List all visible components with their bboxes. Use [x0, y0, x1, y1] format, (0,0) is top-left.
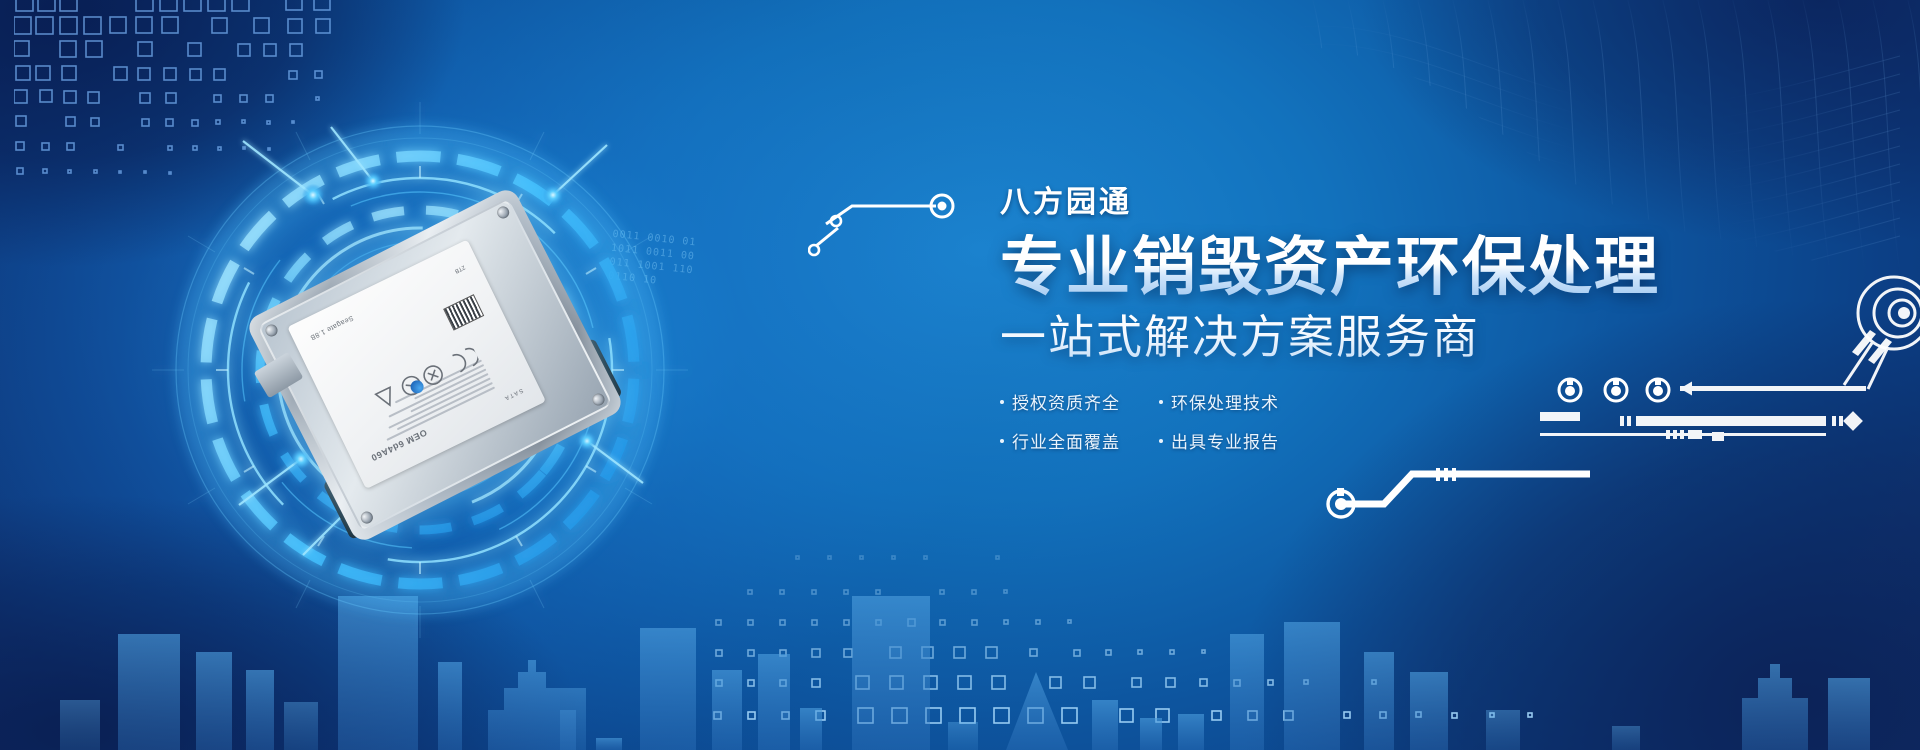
edge-connector-node-icon — [1810, 255, 1920, 405]
feature-label: 环保处理技术 — [1171, 389, 1279, 414]
feature-label: 行业全面覆盖 — [1012, 428, 1120, 453]
hdd-label-barcode-icon — [443, 294, 484, 330]
feature-item: 出具专业报告 — [1159, 428, 1294, 453]
feature-list: 授权资质齐全 环保处理技术 行业全面覆盖 出具专业报告 — [1000, 389, 1740, 453]
hero-copy: 八方园通 专业销毁资产环保处理 一站式解决方案服务商 授权资质齐全 环保处理技术… — [1000, 188, 1740, 453]
feature-label: 出具专业报告 — [1171, 428, 1279, 453]
hero-banner: 0010 1001 1001 1101 0110 101 1011 0011 1… — [0, 0, 1920, 750]
bullet-icon — [1000, 439, 1004, 443]
bullet-icon — [1000, 400, 1004, 404]
callout-connector-icon — [808, 178, 1008, 268]
bullet-icon — [1159, 439, 1163, 443]
feature-item: 环保处理技术 — [1159, 389, 1294, 414]
bullet-icon — [1159, 400, 1163, 404]
feature-item: 授权资质齐全 — [1000, 389, 1135, 414]
feature-label: 授权资质齐全 — [1012, 389, 1120, 414]
hdd-label-brand: Seagate 1.8B — [309, 314, 355, 341]
hdd-label-interface: SATA — [502, 387, 524, 402]
hard-drive-graphic: Seagate 1.8B 2TB OEM 6d4A60 SATA — [135, 85, 755, 645]
hdd-label-capacity: 2TB — [453, 264, 466, 274]
company-brand-name: 八方园通 — [1000, 188, 1740, 218]
hero-headline: 专业销毁资产环保处理 — [1000, 234, 1740, 302]
feature-item: 行业全面覆盖 — [1000, 428, 1135, 453]
hero-subheadline: 一站式解决方案服务商 — [1000, 312, 1740, 364]
